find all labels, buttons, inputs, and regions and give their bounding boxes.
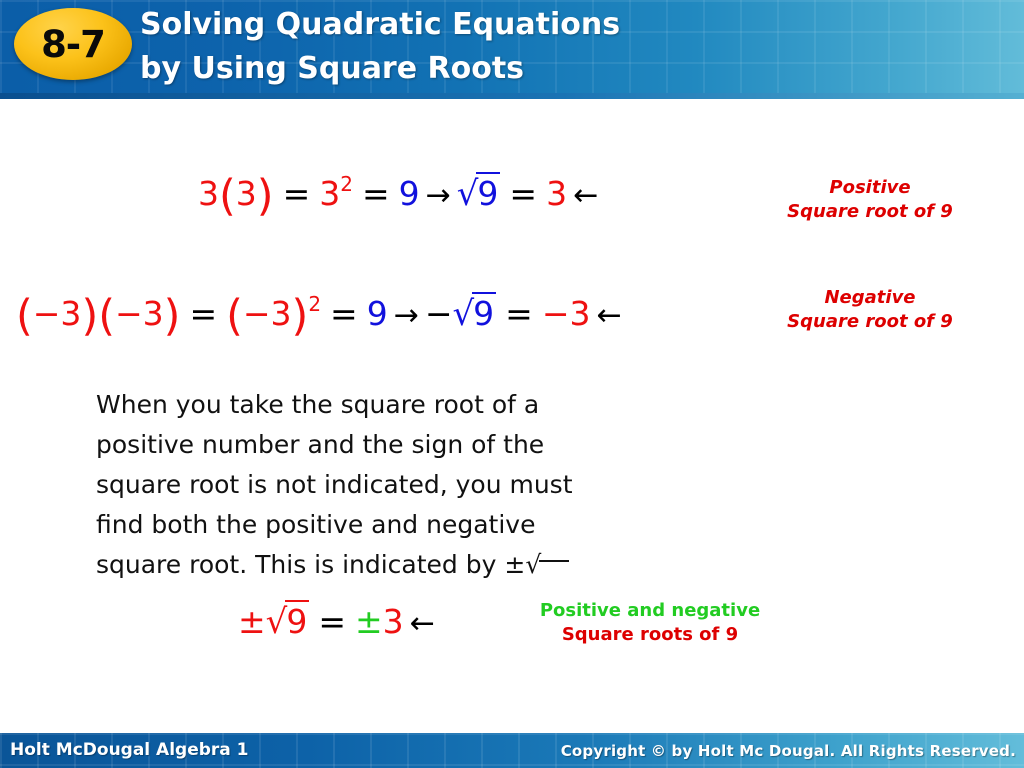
explanation-paragraph: When you take the square root of a posit… — [96, 385, 576, 585]
eq2-close-paren-1: ) — [81, 291, 98, 341]
eq1-equals-1: = — [274, 174, 320, 213]
eq1-close-paren: ) — [257, 171, 274, 221]
eq2-radicand: 9 — [472, 292, 496, 333]
eq1-power-base: 3 — [319, 174, 340, 213]
callout-negative-line-1: Negative — [750, 286, 990, 310]
page-title-line-1: Solving Quadratic Equations — [140, 3, 780, 47]
eq1-product: 9 — [399, 174, 420, 213]
eq2-equals-1: = — [180, 294, 226, 333]
equation-line-2: (−3)(−3)=(−3)2=9→−√9=−3← — [16, 291, 628, 341]
eq1-radical: √9 — [457, 174, 501, 213]
explanation-text: When you take the square root of a posit… — [96, 390, 573, 579]
slide-header: 8-7 Solving Quadratic Equations by Using… — [0, 0, 1024, 99]
slide-footer: Holt McDougal Algebra 1 Copyright © by H… — [0, 733, 1024, 768]
eq2-neg-a: −3 — [33, 294, 82, 333]
eq2-product: 9 — [367, 294, 388, 333]
page-title: Solving Quadratic Equations by Using Squ… — [140, 3, 780, 91]
eq3-result-value: 3 — [383, 602, 404, 641]
eq2-radical-sign: √ — [453, 294, 475, 334]
callout-negative: Negative Square root of 9 — [750, 286, 990, 334]
eq2-power-exponent: 2 — [308, 292, 321, 316]
footer-copyright: Copyright © by Holt Mc Dougal. All Right… — [561, 742, 1016, 760]
eq3-radicand: 9 — [285, 600, 309, 641]
equation-line-1: 3(3)=32=9→√9=3← — [198, 171, 604, 221]
eq1-equals-3: = — [500, 174, 546, 213]
callout-positive: Positive Square root of 9 — [750, 176, 990, 224]
eq2-result: −3 — [542, 294, 591, 333]
eq2-neg-b: −3 — [115, 294, 164, 333]
eq3-result-sign: ± — [355, 602, 383, 641]
eq1-factor-b: 3 — [236, 174, 257, 213]
plus-minus-symbol: ± — [504, 550, 525, 579]
eq1-open-paren: ( — [219, 171, 236, 221]
eq2-leading-minus: − — [425, 294, 453, 333]
eq3-pointer-arrow-icon: ← — [404, 606, 441, 641]
eq2-implies-arrow-icon: → — [388, 298, 425, 333]
callout-both-line-2: Square roots of 9 — [490, 623, 810, 647]
equation-line-3: ±√9=±3← — [238, 602, 441, 642]
lesson-number-badge: 8-7 — [14, 8, 132, 80]
eq1-power-exponent: 2 — [340, 172, 353, 196]
radical-symbol: √ — [525, 550, 541, 579]
callout-positive-line-1: Positive — [750, 176, 990, 200]
eq3-plus-minus: ± — [238, 602, 266, 641]
eq2-equals-2: = — [321, 294, 367, 333]
eq2-close-paren-3: ) — [292, 291, 309, 341]
lesson-number-label: 8-7 — [41, 26, 105, 63]
eq2-power-base: −3 — [243, 294, 292, 333]
eq1-radicand: 9 — [476, 172, 500, 213]
callout-both-line-1: Positive and negative — [490, 599, 810, 623]
eq1-equals-2: = — [353, 174, 399, 213]
eq1-factor-a: 3 — [198, 174, 219, 213]
slide-content: 3(3)=32=9→√9=3← Positive Square root of … — [0, 99, 1024, 733]
callout-positive-line-2: Square root of 9 — [750, 200, 990, 224]
eq2-pointer-arrow-icon: ← — [590, 298, 627, 333]
eq2-open-paren-2: ( — [98, 291, 115, 341]
eq1-implies-arrow-icon: → — [420, 178, 457, 213]
eq2-open-paren-1: ( — [16, 291, 33, 341]
eq2-equals-3: = — [496, 294, 542, 333]
eq1-pointer-arrow-icon: ← — [567, 178, 604, 213]
eq3-equals: = — [309, 602, 355, 641]
callout-negative-line-2: Square root of 9 — [750, 310, 990, 334]
eq2-open-paren-3: ( — [226, 291, 243, 341]
page-title-line-2: by Using Square Roots — [140, 47, 780, 91]
footer-book-title: Holt McDougal Algebra 1 — [10, 740, 249, 760]
eq2-close-paren-2: ) — [164, 291, 181, 341]
eq2-radical: √9 — [453, 294, 497, 333]
radical-overline — [539, 560, 569, 562]
eq1-result: 3 — [546, 174, 567, 213]
callout-both: Positive and negative Square roots of 9 — [490, 599, 810, 647]
eq3-radical: √9 — [266, 602, 310, 641]
